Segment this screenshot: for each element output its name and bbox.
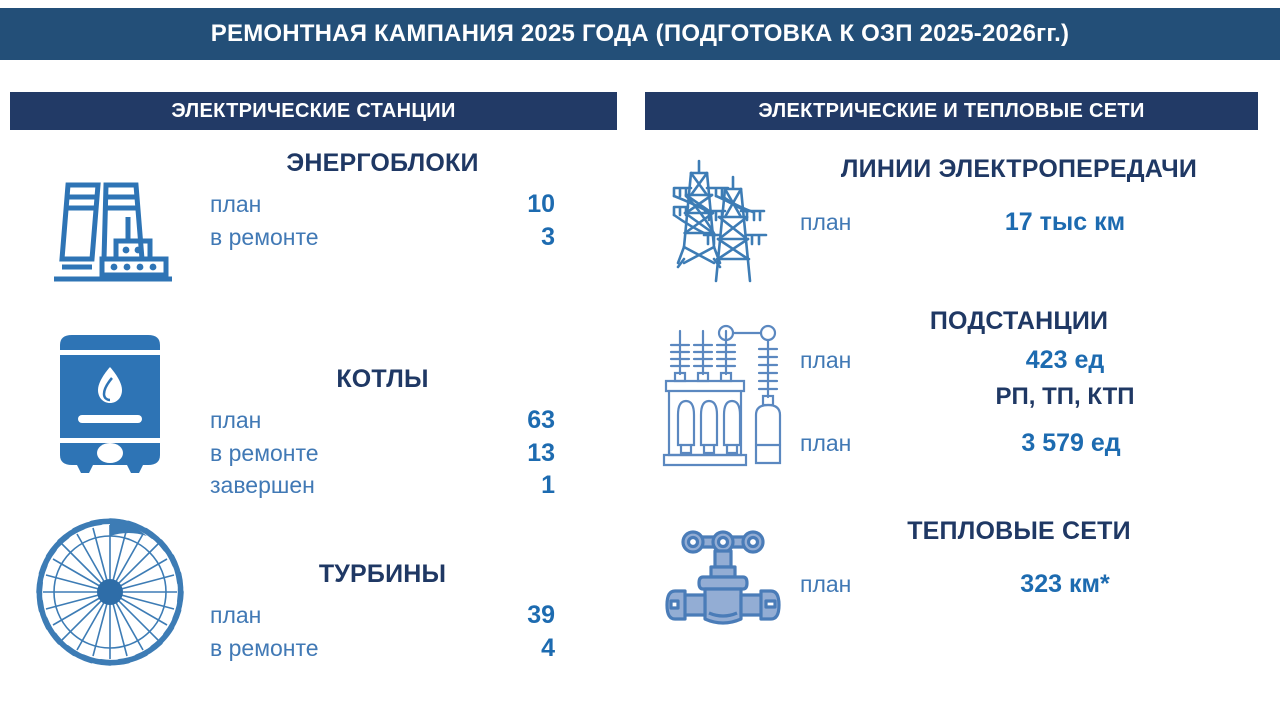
transmission-tower-icon-cell (645, 145, 800, 295)
table-row: в ремонте 13 (210, 437, 555, 470)
substation-icon (658, 319, 788, 469)
row-value: 323 км* (892, 568, 1238, 601)
powerlines-text: ЛИНИИ ЭЛЕКТРОПЕРЕДАЧИ план 17 тыс км (800, 145, 1258, 239)
row-value: 10 (527, 188, 555, 221)
block-turbines: ТУРБИНЫ план 39 в ремонте 4 (10, 500, 617, 672)
block-powerlines: ЛИНИИ ЭЛЕКТРОПЕРЕДАЧИ план 17 тыс км (645, 145, 1258, 295)
table-row: план 63 (210, 404, 555, 437)
substation-icon-cell (645, 305, 800, 469)
table-row: план 17 тыс км (800, 206, 1238, 239)
block-title-substations: ПОДСТАНЦИИ (800, 307, 1238, 336)
substations-rows: план 423 ед (800, 344, 1238, 377)
row-label: в ремонте (210, 439, 319, 469)
block-title-boilers: КОТЛЫ (210, 365, 555, 394)
pipe-valve-icon (653, 515, 793, 635)
transmission-tower-icon (658, 155, 788, 295)
page-title: РЕМОНТНАЯ КАМПАНИЯ 2025 ГОДА (ПОДГОТОВКА… (211, 20, 1069, 48)
row-value: 4 (541, 632, 555, 665)
table-row: план 323 км* (800, 568, 1238, 601)
block-substations: ПОДСТАНЦИИ план 423 ед РП, ТП, КТП план … (645, 305, 1258, 469)
top-banner: РЕМОНТНАЯ КАМПАНИЯ 2025 ГОДА (ПОДГОТОВКА… (0, 8, 1280, 60)
table-row: в ремонте 4 (210, 632, 555, 665)
substations-text: ПОДСТАНЦИИ план 423 ед РП, ТП, КТП план … (800, 305, 1258, 459)
row-label: в ремонте (210, 223, 319, 253)
section-header-networks: ЭЛЕКТРИЧЕСКИЕ И ТЕПЛОВЫЕ СЕТИ (645, 92, 1258, 130)
row-label: план (210, 601, 261, 631)
row-label: план (800, 346, 892, 376)
heatnets-text: ТЕПЛОВЫЕ СЕТИ план 323 км* (800, 495, 1258, 601)
row-label: план (210, 190, 261, 220)
turbine-icon-cell (10, 500, 210, 672)
table-row: завершен 1 (210, 469, 555, 502)
table-row: план 10 (210, 188, 555, 221)
row-label: завершен (210, 471, 315, 501)
pipe-valve-icon-cell (645, 495, 800, 635)
energoblocks-rows: план 10 в ремонте 3 (210, 188, 555, 253)
row-value: 13 (527, 437, 555, 470)
row-value: 17 тыс км (892, 206, 1238, 239)
block-boilers: КОТЛЫ план 63 в ремонте 13 завершен 1 (10, 315, 617, 502)
turbines-rows: план 39 в ремонте 4 (210, 599, 555, 664)
row-value: 1 (541, 469, 555, 502)
boiler-icon (50, 333, 170, 473)
block-title-heatnets: ТЕПЛОВЫЕ СЕТИ (800, 517, 1238, 546)
powerlines-rows: план 17 тыс км (800, 206, 1238, 239)
section-header-networks-label: ЭЛЕКТРИЧЕСКИЕ И ТЕПЛОВЫЕ СЕТИ (758, 100, 1144, 123)
turbines-text: ТУРБИНЫ план 39 в ремонте 4 (210, 500, 617, 664)
table-row: в ремонте 3 (210, 221, 555, 254)
row-value: 3 579 ед (904, 427, 1238, 460)
row-value: 3 (541, 221, 555, 254)
row-value: 423 ед (892, 344, 1238, 377)
row-label: план (800, 570, 892, 600)
row-label: план (800, 429, 904, 459)
block-title-turbines: ТУРБИНЫ (210, 560, 555, 589)
power-plant-icon (40, 167, 180, 287)
table-row: план 3 579 ед (800, 427, 1238, 460)
row-label: план (210, 406, 261, 436)
section-header-stations-label: ЭЛЕКТРИЧЕСКИЕ СТАНЦИИ (171, 100, 455, 123)
block-subtitle-substations: РП, ТП, КТП (800, 383, 1238, 411)
power-plant-icon-cell (10, 145, 210, 287)
table-row: план 423 ед (800, 344, 1238, 377)
energoblocks-text: ЭНЕРГОБЛОКИ план 10 в ремонте 3 (210, 145, 617, 253)
row-label: в ремонте (210, 634, 319, 664)
boiler-icon-cell (10, 315, 210, 473)
heatnets-rows: план 323 км* (800, 568, 1238, 601)
block-title-energoblocks: ЭНЕРГОБЛОКИ (210, 149, 555, 178)
row-value: 63 (527, 404, 555, 437)
substations-rows-2: план 3 579 ед (800, 427, 1238, 460)
block-energoblocks: ЭНЕРГОБЛОКИ план 10 в ремонте 3 (10, 145, 617, 287)
turbine-icon (30, 512, 190, 672)
block-heatnets: ТЕПЛОВЫЕ СЕТИ план 323 км* (645, 495, 1258, 635)
block-title-powerlines: ЛИНИИ ЭЛЕКТРОПЕРЕДАЧИ (800, 155, 1238, 184)
boilers-text: КОТЛЫ план 63 в ремонте 13 завершен 1 (210, 315, 617, 502)
infographic-page: РЕМОНТНАЯ КАМПАНИЯ 2025 ГОДА (ПОДГОТОВКА… (0, 0, 1280, 720)
boilers-rows: план 63 в ремонте 13 завершен 1 (210, 404, 555, 502)
section-header-stations: ЭЛЕКТРИЧЕСКИЕ СТАНЦИИ (10, 92, 617, 130)
row-label: план (800, 208, 892, 238)
table-row: план 39 (210, 599, 555, 632)
row-value: 39 (527, 599, 555, 632)
